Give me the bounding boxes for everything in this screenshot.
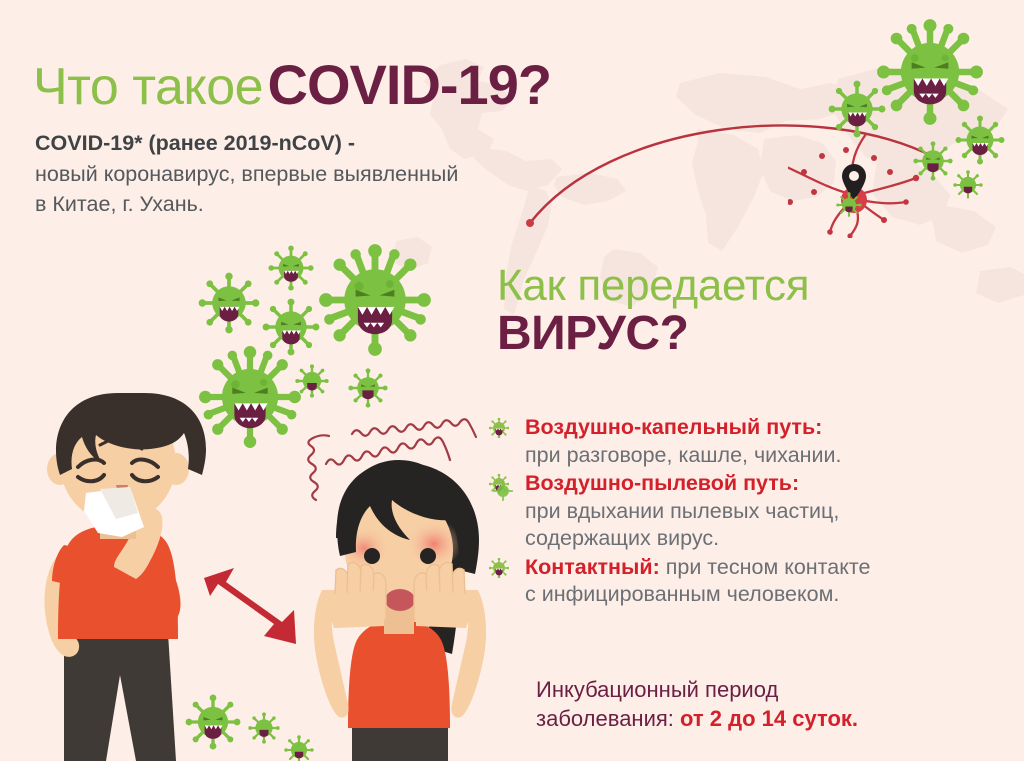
incubation-line-1: Инкубационный период xyxy=(536,676,1016,705)
section-title: Как передается ВИРУС? xyxy=(497,263,809,359)
virus-illustration xyxy=(248,712,280,744)
infographic-poster: Что такое COVID-19? COVID-19* (ранее 201… xyxy=(0,0,1024,761)
incubation-value: от 2 до 14 суток. xyxy=(674,706,858,731)
virus-illustration xyxy=(876,18,984,126)
list-item-text: содержащих вирус. xyxy=(525,526,719,550)
page-title: Что такое COVID-19? xyxy=(33,52,551,117)
list-item: Воздушно-пылевой путь: при вдыхании пыле… xyxy=(489,470,1014,553)
list-item-text: при вдыхании пылевых частиц, xyxy=(525,499,839,523)
title-green: Что такое xyxy=(33,58,263,116)
virus-illustration xyxy=(836,192,862,218)
virus-illustration xyxy=(262,298,320,356)
virus-illustration xyxy=(913,141,953,181)
intro-line-3: в Китае, г. Ухань. xyxy=(35,189,655,220)
virus-illustration xyxy=(268,245,314,291)
incubation-label: заболевания: xyxy=(536,706,674,731)
intro-paragraph: COVID-19* (ранее 2019-nCoV) - новый коро… xyxy=(35,128,655,220)
double-headed-arrow xyxy=(190,552,305,657)
list-item-title: Контактный: xyxy=(525,555,660,579)
virus-illustration xyxy=(348,368,388,408)
intro-line-2: новый коронавирус, впервые выявленный xyxy=(35,159,655,190)
sick-woman-holding-face xyxy=(292,452,506,761)
list-item-text-inline: при тесном контакте xyxy=(660,555,871,579)
list-item-title: Воздушно-капельный путь: xyxy=(525,415,822,439)
section-title-green: Как передается xyxy=(497,263,809,309)
transmission-list: Воздушно-капельный путь: при разговоре, … xyxy=(489,414,1014,610)
list-item: Воздушно-капельный путь: при разговоре, … xyxy=(489,414,1014,469)
list-item-text: с инфицированным человеком. xyxy=(525,582,839,606)
virus-illustration xyxy=(295,364,329,398)
intro-line-1: COVID-19* (ранее 2019-nCoV) - xyxy=(35,128,655,159)
list-item: Контактный: при тесном контакте с инфици… xyxy=(489,554,1014,609)
section-title-maroon: ВИРУС? xyxy=(497,309,809,359)
virus-illustration xyxy=(198,272,260,334)
virus-illustration xyxy=(953,170,983,200)
list-item-title: Воздушно-пылевой путь: xyxy=(525,471,799,495)
incubation-note: Инкубационный период заболевания: от 2 д… xyxy=(536,676,1016,733)
virus-illustration xyxy=(828,80,886,138)
virus-illustration xyxy=(955,115,1005,165)
virus-illustration xyxy=(318,243,432,357)
title-maroon: COVID-19? xyxy=(268,53,552,116)
list-item-text: при разговоре, кашле, чихании. xyxy=(525,443,842,467)
